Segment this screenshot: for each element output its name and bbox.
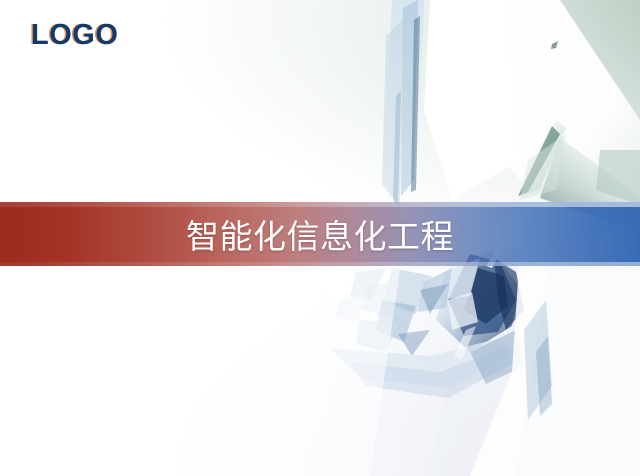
presentation-slide: LOGO 智能化信息化工程 [0,0,640,476]
slide-title: 智能化信息化工程 [0,202,640,266]
logo-text[interactable]: LOGO [31,20,118,50]
title-banner: 智能化信息化工程 [0,202,640,266]
